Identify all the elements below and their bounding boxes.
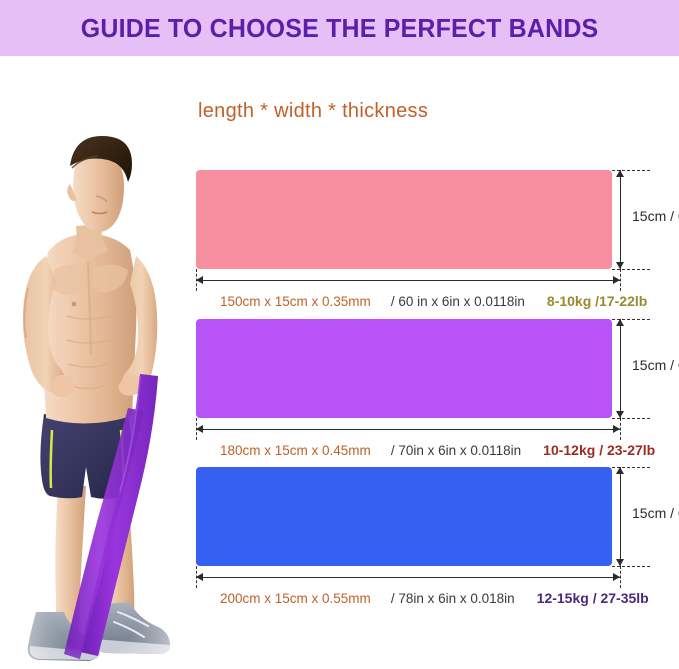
extension-line-right (620, 269, 621, 291)
dimensions-subtitle: length * width * thickness (198, 100, 428, 123)
metric-dimensions: 200cm x 15cm x 0.55mm (220, 591, 371, 606)
length-dimension-line (192, 269, 679, 291)
arrow-left-icon (196, 573, 203, 581)
athlete-photo-panel (0, 56, 192, 669)
extension-line-right (620, 566, 621, 588)
height-dimension-line: 15cm / 6in (612, 463, 679, 570)
band-swatch-pink (196, 170, 612, 269)
athlete-photo (0, 56, 192, 669)
arrow-right-icon (613, 425, 620, 433)
height-label: 15cm / 6in (632, 505, 679, 521)
metric-dimensions: 180cm x 15cm x 0.45mm (220, 443, 371, 458)
resistance-weight: 8-10kg /17-22lb (547, 293, 647, 309)
band-swatch-blue (196, 467, 612, 566)
dimension-line (196, 429, 620, 430)
metric-dimensions: 150cm x 15cm x 0.35mm (220, 294, 371, 309)
bands-panel: length * width * thickness 15cm / 6in 15… (192, 56, 679, 669)
imperial-dimensions: / 60 in x 6in x 0.0118in (391, 294, 525, 309)
imperial-dimensions: / 70in x 6in x 0.0118in (391, 443, 521, 458)
arrow-left-icon (196, 276, 203, 284)
band-spec-row: 150cm x 15cm x 0.35mm / 60 in x 6in x 0.… (192, 290, 679, 312)
dimension-line (196, 280, 620, 281)
resistance-weight: 10-12kg / 23-27lb (543, 442, 655, 458)
arrow-up-icon (616, 170, 624, 177)
dimension-line (620, 319, 621, 418)
resistance-weight: 12-15kg / 27-35lb (537, 590, 649, 606)
arrow-down-icon (616, 411, 624, 418)
arrow-right-icon (613, 276, 620, 284)
arrow-right-icon (613, 573, 620, 581)
dimension-line (620, 467, 621, 566)
header-bar: GUIDE TO CHOOSE THE PERFECT BANDS (0, 0, 679, 56)
extension-line-right (620, 418, 621, 440)
length-dimension-line (192, 566, 679, 588)
height-dimension-line: 15cm / 6in (612, 166, 679, 273)
band-spec-row: 180cm x 15cm x 0.45mm / 70in x 6in x 0.0… (192, 439, 679, 461)
height-label: 15cm / 6in (632, 357, 679, 373)
imperial-dimensions: / 78in x 6in x 0.018in (391, 591, 515, 606)
arrow-down-icon (616, 262, 624, 269)
height-label: 15cm / 6in (632, 208, 679, 224)
band-swatch-purple (196, 319, 612, 418)
dimension-line (620, 170, 621, 269)
band-spec-row: 200cm x 15cm x 0.55mm / 78in x 6in x 0.0… (192, 587, 679, 609)
length-dimension-line (192, 418, 679, 440)
arrow-up-icon (616, 467, 624, 474)
arrow-down-icon (616, 559, 624, 566)
page-title: GUIDE TO CHOOSE THE PERFECT BANDS (81, 13, 599, 44)
arrow-left-icon (196, 425, 203, 433)
arrow-up-icon (616, 319, 624, 326)
height-dimension-line: 15cm / 6in (612, 315, 679, 422)
dimension-line (196, 577, 620, 578)
